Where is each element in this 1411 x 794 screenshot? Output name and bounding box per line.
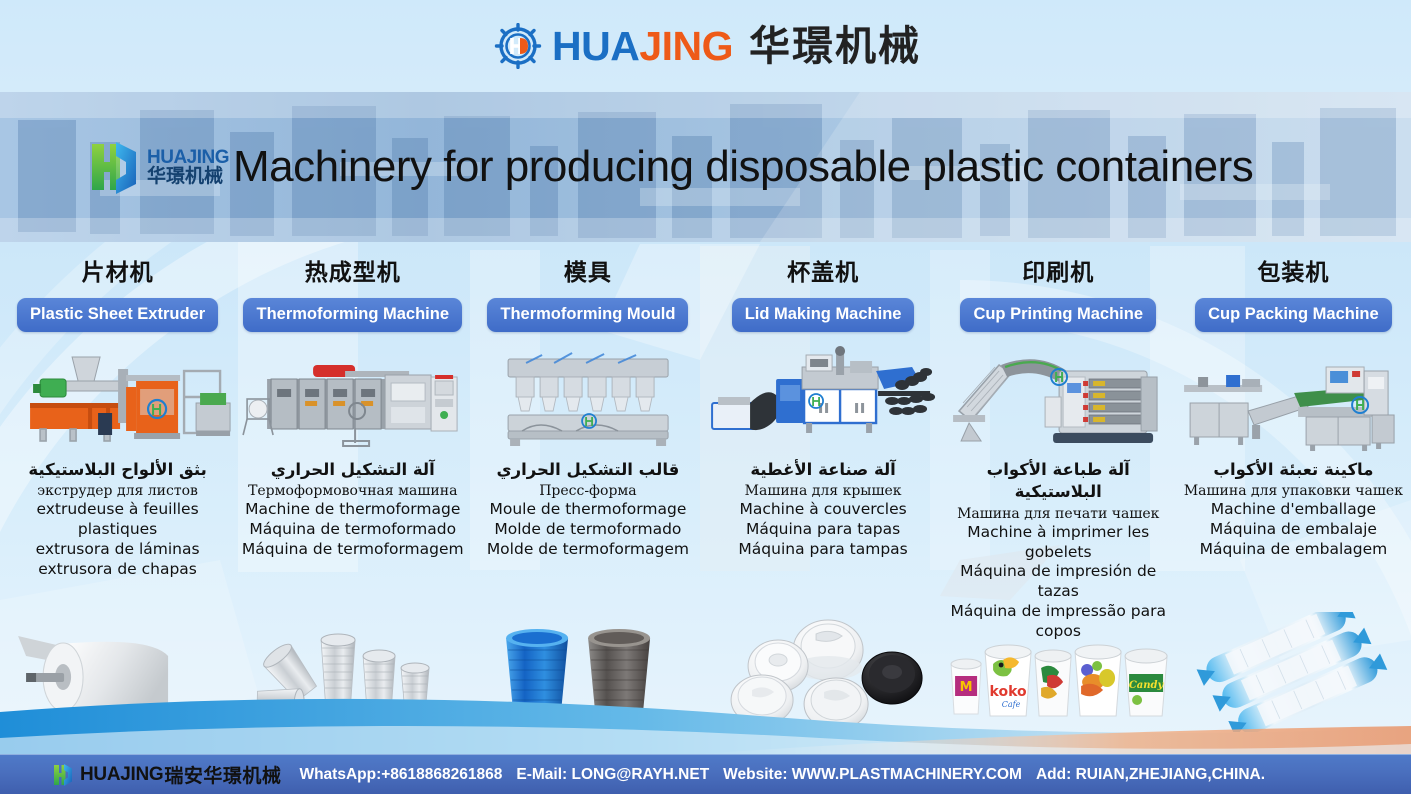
translation-portuguese: Máquina para tampas — [710, 540, 937, 560]
product-column-lid-making-machine[interactable]: 杯盖机 Lid Making Machine — [706, 242, 941, 742]
translation-russian: Машина для печати чашек — [945, 505, 1172, 523]
column-badge-cup-printing-machine[interactable]: Cup Printing Machine — [960, 298, 1156, 332]
translation-french: Moule de thermoformage — [474, 500, 701, 520]
translation-spanish: extrusora de láminas — [4, 540, 231, 560]
translation-spanish: Máquina de embalaje — [1180, 520, 1407, 540]
translation-spanish: Máquina de impresión de tazas — [945, 562, 1172, 602]
brand-chinese-text: 华璟机械 — [749, 26, 921, 67]
footer-email[interactable]: E-Mail: LONG@RAYH.NET — [516, 766, 709, 783]
lid-making-machine-icon — [706, 341, 941, 453]
translation-french: Machine d'emballage — [1180, 500, 1407, 520]
hero-logo: HUAJING 华璟机械 — [86, 138, 229, 196]
translation-french: Machine à couvercles — [710, 500, 937, 520]
column-chinese-title: 模具 — [564, 253, 612, 287]
footer-brand-latin: HUAJING — [80, 764, 163, 786]
translation-spanish: Molde de termoformado — [474, 520, 701, 540]
product-column-grid: 片材机 Plastic Sheet Extruder — [0, 242, 1411, 742]
translation-arabic: قالب التشكيل الحراري — [474, 459, 701, 481]
thermoforming-mould-icon — [470, 341, 705, 453]
translation-arabic: بثق الألواح البلاستيكية — [4, 459, 231, 481]
column-badge-thermoforming-machine[interactable]: Thermoforming Machine — [243, 298, 462, 332]
column-badge-lid-making-machine[interactable]: Lid Making Machine — [732, 298, 915, 332]
cup-packing-machine-icon — [1176, 341, 1411, 453]
translations-block: بثق الألواح البلاستيكية экструдер для ли… — [0, 459, 235, 580]
column-chinese-title: 热成型机 — [305, 253, 401, 287]
translation-russian: Пресс-форма — [474, 482, 701, 500]
huajing-h-mark-icon — [52, 763, 74, 787]
translation-portuguese: Máquina de termoformagem — [239, 540, 466, 560]
translation-russian: Термоформовочная машина — [239, 482, 466, 500]
column-badge-cup-packing-machine[interactable]: Cup Packing Machine — [1195, 298, 1392, 332]
translation-arabic: ماكينة تعبئة الأكواب — [1180, 459, 1407, 481]
footer-whatsapp[interactable]: WhatsApp:+8618868261868 — [299, 766, 502, 783]
column-chinese-title: 包装机 — [1257, 253, 1329, 287]
hero-title: Machinery for producing disposable plast… — [233, 142, 1253, 192]
hero-banner: HUAJING 华璟机械 Machinery for producing dis… — [0, 92, 1411, 242]
translations-block: آلة صناعة الأغطية Машина для крышек Mach… — [706, 459, 941, 560]
footer-contact-bar: HUAJING 瑞安华璟机械 WhatsApp:+8618868261868E-… — [0, 754, 1411, 794]
product-column-thermoforming-machine[interactable]: 热成型机 Thermoforming Machine — [235, 242, 470, 742]
product-column-cup-printing-machine[interactable]: 印刷机 Cup Printing Machine — [941, 242, 1176, 742]
product-column-cup-packing-machine[interactable]: 包装机 Cup Packing Machine — [1176, 242, 1411, 742]
svg-text:Candy: Candy — [1128, 680, 1164, 691]
translation-french: Machine de thermoformage — [239, 500, 466, 520]
translation-portuguese: Máquina de embalagem — [1180, 540, 1407, 560]
translation-spanish: Máquina para tapas — [710, 520, 937, 540]
translation-arabic: آلة طباعة الأكواب البلاستيكية — [945, 459, 1172, 504]
brand-latin-text: HUAJING — [552, 26, 733, 67]
translation-arabic: آلة التشكيل الحراري — [239, 459, 466, 481]
poster-canvas: HUAJING 华璟机械 — [0, 0, 1411, 794]
top-logo-bar: HUAJING 华璟机械 — [0, 0, 1411, 92]
translation-russian: экструдер для листов — [4, 482, 231, 500]
column-chinese-title: 片材机 — [82, 253, 154, 287]
translation-arabic: آلة صناعة الأغطية — [710, 459, 937, 481]
translation-russian: Машина для крышек — [710, 482, 937, 500]
footer-brand-chinese: 瑞安华璟机械 — [164, 761, 281, 788]
huajing-h-logo-icon — [86, 138, 142, 196]
column-chinese-title: 印刷机 — [1022, 253, 1094, 287]
translation-french: Machine à imprimer les gobelets — [945, 523, 1172, 563]
hero-logo-chinese: 华璟机械 — [147, 167, 229, 186]
translations-block: ماكينة تعبئة الأكواب Машина для упаковки… — [1176, 459, 1411, 560]
svg-text:M: M — [959, 680, 972, 695]
translation-russian: Машина для упаковки чашек — [1180, 482, 1407, 500]
huajing-gear-h-logo-icon — [490, 23, 546, 69]
translation-french: extrudeuse à feuilles plastiques — [4, 500, 231, 540]
translations-block: قالب التشكيل الحراري Пресс-форма Moule d… — [470, 459, 705, 560]
column-badge-plastic-sheet-extruder[interactable]: Plastic Sheet Extruder — [17, 298, 218, 332]
cup-printing-machine-icon — [941, 341, 1176, 453]
thermoforming-machine-icon — [235, 341, 470, 453]
footer-contact-details: WhatsApp:+8618868261868E-Mail: LONG@RAYH… — [299, 766, 1279, 784]
translation-spanish: Máquina de termoformado — [239, 520, 466, 540]
product-column-thermoforming-mould[interactable]: 模具 Thermoforming Mould — [470, 242, 705, 742]
brand-hua: HUA — [552, 23, 639, 69]
plastic-sheet-extruder-line-icon — [0, 341, 235, 453]
translation-portuguese: extrusora de chapas — [4, 560, 231, 580]
column-badge-thermoforming-mould[interactable]: Thermoforming Mould — [487, 298, 688, 332]
translation-portuguese: Molde de termoformagem — [474, 540, 701, 560]
translations-block: آلة التشكيل الحراري Термоформовочная маш… — [235, 459, 470, 560]
footer-address: Add: RUIAN,ZHEJIANG,CHINA. — [1036, 766, 1265, 783]
brand-jing: JING — [639, 23, 733, 69]
footer-website[interactable]: Website: WWW.PLASTMACHINERY.COM — [723, 766, 1022, 783]
column-chinese-title: 杯盖机 — [787, 253, 859, 287]
product-column-plastic-sheet-extruder[interactable]: 片材机 Plastic Sheet Extruder — [0, 242, 235, 742]
